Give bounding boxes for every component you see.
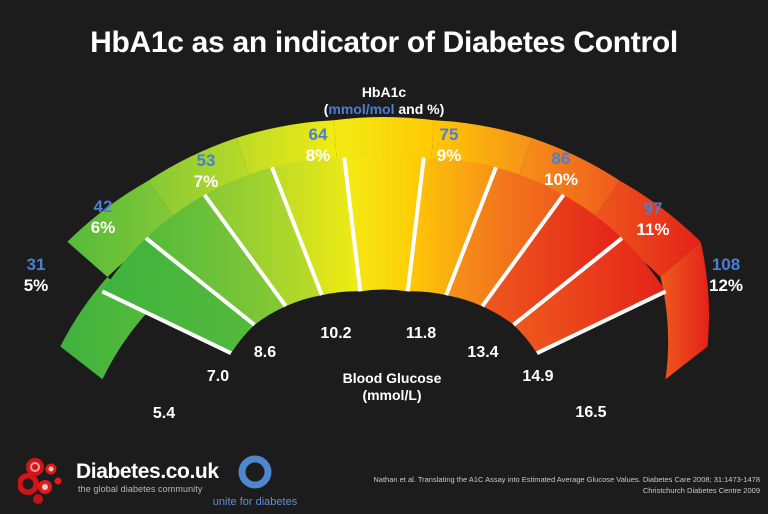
glucose-label-11-8: 11.8 (390, 325, 452, 343)
tick-label-53: 53 7% (176, 152, 236, 191)
tick-label-42: 42 6% (73, 198, 133, 237)
unite-for-diabetes-logo[interactable]: unite for diabetes (196, 452, 316, 510)
glucose-axis-caption: Blood Glucose (mmol/L) (304, 370, 480, 404)
tick-label-31: 31 5% (6, 256, 66, 295)
tick-pct-10: 10% (528, 171, 594, 189)
tick-pct-11: 11% (620, 221, 686, 239)
tick-mmol-86: 86 (528, 150, 594, 168)
tick-label-86: 86 10% (528, 150, 594, 189)
glucose-caption-line2: (mmol/L) (304, 387, 480, 404)
glucose-label-8-6: 8.6 (237, 344, 293, 362)
infographic-root: HbA1c as an indicator of Diabetes Contro… (0, 0, 768, 514)
tick-pct-12: 12% (692, 277, 760, 295)
tick-pct-5: 5% (6, 277, 66, 295)
glucose-label-14-9: 14.9 (507, 368, 569, 386)
tick-mmol-42: 42 (73, 198, 133, 216)
tick-label-75: 75 9% (419, 126, 479, 165)
footer: Diabetes.co.uk the global diabetes commu… (0, 446, 768, 514)
blood-cells-logo-icon (18, 456, 74, 506)
tick-mmol-97: 97 (620, 200, 686, 218)
tick-mmol-75: 75 (419, 126, 479, 144)
tick-pct-7: 7% (176, 173, 236, 191)
tick-mmol-53: 53 (176, 152, 236, 170)
glucose-label-5-4: 5.4 (136, 405, 192, 423)
hba1c-gauge-arc (0, 0, 768, 514)
glucose-label-13-4: 13.4 (452, 344, 514, 362)
citation-line-1: Nathan et al. Translating the A1C Assay … (340, 474, 760, 485)
unite-label: unite for diabetes (196, 496, 314, 508)
citation: Nathan et al. Translating the A1C Assay … (340, 474, 760, 496)
glucose-label-16-5: 16.5 (560, 404, 622, 422)
tick-pct-8: 8% (288, 147, 348, 165)
brand-tagline: the global diabetes community (78, 484, 202, 494)
tick-pct-9: 9% (419, 147, 479, 165)
glucose-label-10-2: 10.2 (305, 325, 367, 343)
glucose-label-7-0: 7.0 (190, 368, 246, 386)
glucose-caption-line1: Blood Glucose (304, 370, 480, 387)
tick-label-108: 108 12% (692, 256, 760, 295)
tick-label-64: 64 8% (288, 126, 348, 165)
tick-mmol-64: 64 (288, 126, 348, 144)
tick-mmol-108: 108 (692, 256, 760, 274)
citation-line-2: Christchurch Diabetes Centre 2009 (340, 485, 760, 496)
tick-pct-6: 6% (73, 219, 133, 237)
diabetes-couk-logo[interactable]: Diabetes.co.uk the global diabetes commu… (18, 452, 218, 508)
tick-label-97: 97 11% (620, 200, 686, 239)
blue-circle-icon (233, 452, 277, 496)
tick-mmol-31: 31 (6, 256, 66, 274)
